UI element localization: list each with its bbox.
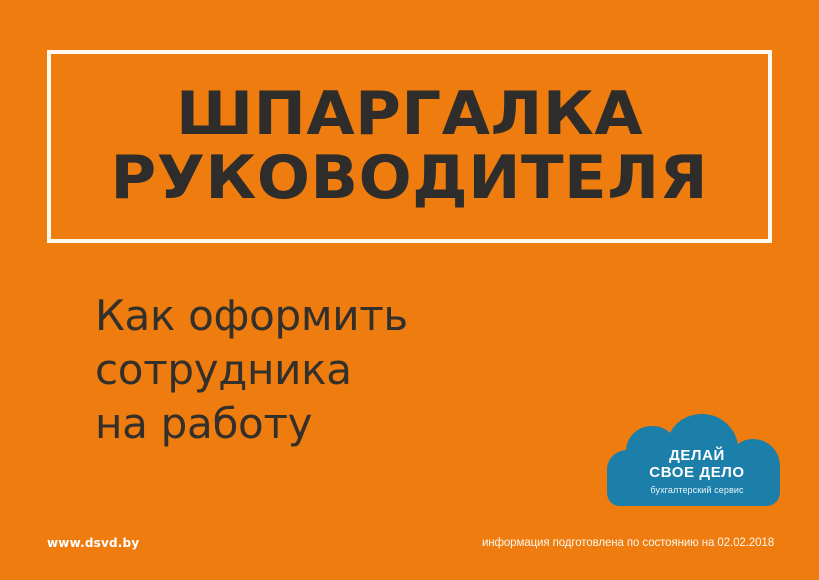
brand-logo[interactable]: ДЕЛАЙ СВОЕ ДЕЛО бухгалтерский сервис: [607, 414, 787, 506]
subtitle-line-1: Как оформить: [95, 289, 555, 343]
subtitle-line-2: сотрудника: [95, 343, 555, 397]
title-line-1: ШПАРГАЛКА: [176, 86, 643, 144]
subtitle-line-3: на работу: [95, 397, 555, 451]
subtitle-block: Как оформить сотрудника на работу: [95, 289, 555, 450]
logo-line-2: СВОЕ ДЕЛО: [649, 465, 744, 482]
site-url-link[interactable]: www.dsvd.by: [47, 536, 139, 550]
title-line-2: РУКОВОДИТЕЛЯ: [111, 150, 709, 208]
title-frame: ШПАРГАЛКА РУКОВОДИТЕЛЯ: [47, 50, 772, 243]
logo-tagline: бухгалтерский сервис: [650, 485, 743, 495]
logo-text-group: ДЕЛАЙ СВОЕ ДЕЛО бухгалтерский сервис: [607, 414, 787, 506]
footer-bar: www.dsvd.by информация подготовлена по с…: [0, 518, 819, 580]
prepared-date-note: информация подготовлена по состоянию на …: [482, 537, 774, 549]
poster-canvas: ШПАРГАЛКА РУКОВОДИТЕЛЯ Как оформить сотр…: [0, 0, 819, 580]
logo-line-1: ДЕЛАЙ: [669, 448, 725, 465]
